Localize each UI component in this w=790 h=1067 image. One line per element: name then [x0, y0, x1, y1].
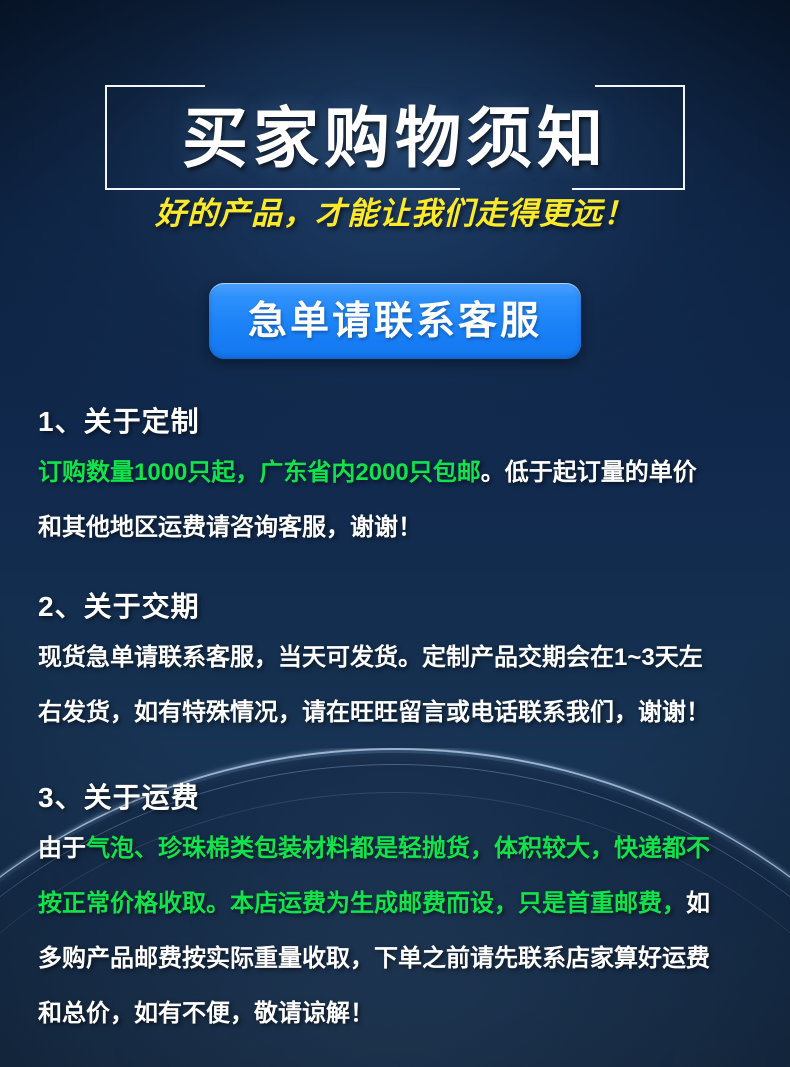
section-line: 多购产品邮费按实际重量收取，下单之前请先联系店家算好运费: [38, 937, 754, 980]
body-text: 由于: [38, 835, 86, 862]
body-text: 和总价，如有不便，敬请谅解！: [38, 1000, 374, 1027]
highlighted-text: 气泡、珍珠棉类包装材料都是轻抛货，体积较大，快递都不: [86, 835, 710, 862]
body-text: 多购产品邮费按实际重量收取，下单之前请先联系店家算好运费: [38, 945, 710, 972]
page-title: 买家购物须知: [105, 85, 685, 190]
notice-section: 3、关于运费由于气泡、珍珠棉类包装材料都是轻抛货，体积较大，快递都不按正常价格收…: [38, 780, 754, 1035]
cta-container: 急单请联系客服: [0, 283, 790, 359]
notice-section: 1、关于定制订购数量1000只起，广东省内2000只包邮。低于起订量的单价和其他…: [38, 404, 754, 549]
contact-support-button[interactable]: 急单请联系客服: [209, 283, 581, 359]
section-line: 由于气泡、珍珠棉类包装材料都是轻抛货，体积较大，快递都不: [38, 827, 754, 870]
body-text: 和其他地区运费请咨询客服，谢谢！: [38, 514, 422, 541]
body-text: 右发货，如有特殊情况，请在旺旺留言或电话联系我们，谢谢！: [38, 699, 710, 726]
section-heading: 1、关于定制: [38, 404, 754, 439]
section-heading: 3、关于运费: [38, 780, 754, 815]
highlighted-text: 订购数量1000只起，广东省内2000只包邮: [38, 459, 481, 486]
section-line: 现货急单请联系客服，当天可发货。定制产品交期会在1~3天左: [38, 636, 754, 679]
section-line: 订购数量1000只起，广东省内2000只包邮。低于起订量的单价: [38, 451, 754, 494]
section-line: 和其他地区运费请咨询客服，谢谢！: [38, 506, 754, 549]
section-heading: 2、关于交期: [38, 589, 754, 624]
notice-sections: 1、关于定制订购数量1000只起，广东省内2000只包邮。低于起订量的单价和其他…: [38, 404, 754, 1035]
title-frame: 买家购物须知: [105, 85, 685, 190]
promo-banner: 买家购物须知 好的产品，才能让我们走得更远！ 急单请联系客服 1、关于定制订购数…: [0, 0, 790, 1067]
notice-section: 2、关于交期现货急单请联系客服，当天可发货。定制产品交期会在1~3天左右发货，如…: [38, 589, 754, 734]
section-line: 和总价，如有不便，敬请谅解！: [38, 992, 754, 1035]
page-subtitle: 好的产品，才能让我们走得更远！: [0, 198, 790, 229]
section-line: 右发货，如有特殊情况，请在旺旺留言或电话联系我们，谢谢！: [38, 691, 754, 734]
body-text: 现货急单请联系客服，当天可发货。定制产品交期会在1~3天左: [38, 644, 703, 671]
highlighted-text: 按正常价格收取。本店运费为生成邮费而设，只是首重邮费，: [38, 890, 686, 917]
section-line: 按正常价格收取。本店运费为生成邮费而设，只是首重邮费，如: [38, 882, 754, 925]
body-text: 如: [686, 890, 710, 917]
body-text: 。低于起订量的单价: [481, 459, 697, 486]
